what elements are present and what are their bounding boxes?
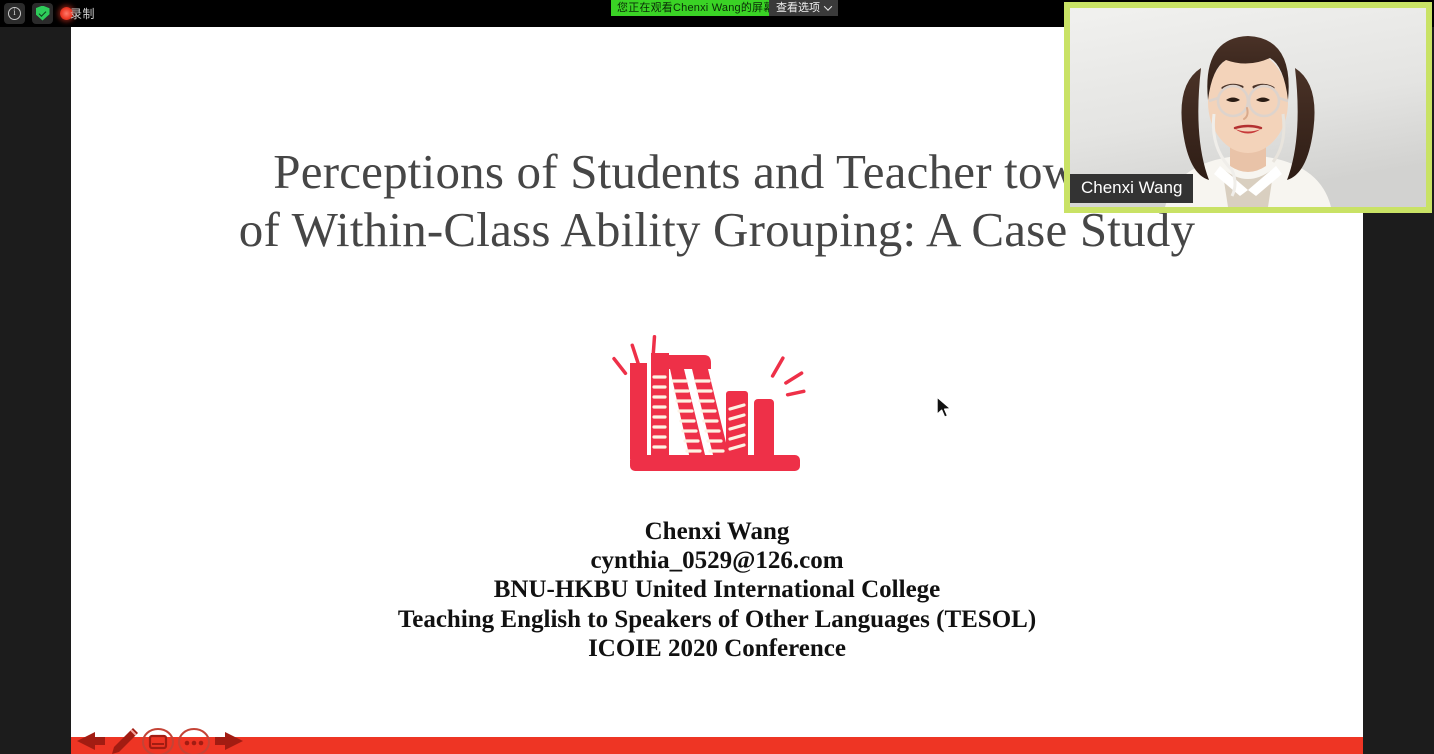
meeting-info-button[interactable] [4, 3, 25, 24]
view-options-button[interactable]: 查看选项 [769, 0, 838, 16]
participant-video-feed: Chenxi Wang [1070, 8, 1426, 207]
institution: BNU-HKBU United International College [71, 575, 1363, 604]
info-circle-icon [8, 7, 21, 20]
participant-name-label: Chenxi Wang [1070, 174, 1193, 203]
previous-slide-arrow[interactable] [73, 728, 107, 754]
author-email: cynthia_0529@126.com [71, 546, 1363, 575]
red-books-icon [608, 325, 828, 485]
more-options-button[interactable] [177, 728, 211, 754]
view-options-label: 查看选项 [776, 0, 820, 16]
zoom-screen-share-window: 录制 您正在观看Chenxi Wang的屏幕 查看选项 Perceptions … [0, 0, 1434, 754]
participant-video-tile[interactable]: Chenxi Wang [1064, 2, 1432, 213]
green-shield-icon [36, 6, 50, 21]
pen-icon [109, 728, 139, 754]
top-bar-status-icons [4, 2, 73, 24]
program: Teaching English to Speakers of Other La… [71, 605, 1363, 634]
conference: ICOIE 2020 Conference [71, 634, 1363, 663]
next-slide-arrow[interactable] [213, 728, 247, 754]
ellipsis-icon [177, 728, 211, 754]
encryption-status-button[interactable] [32, 3, 53, 24]
screen-share-banner: 您正在观看Chenxi Wang的屏幕 [611, 0, 780, 16]
slide-thumbnail-button[interactable] [141, 728, 175, 754]
author-name: Chenxi Wang [71, 517, 1363, 546]
presentation-controls [73, 728, 247, 754]
presentation-control-bar [71, 737, 1363, 754]
slide-icon [141, 728, 175, 754]
recording-label: 录制 [70, 7, 95, 21]
pen-annotation-button[interactable] [109, 728, 139, 754]
right-arrow-icon [213, 728, 247, 754]
chevron-down-icon [824, 2, 832, 10]
slide-body-text: Chenxi Wang cynthia_0529@126.com BNU-HKB… [71, 517, 1363, 663]
left-arrow-icon [73, 728, 107, 754]
